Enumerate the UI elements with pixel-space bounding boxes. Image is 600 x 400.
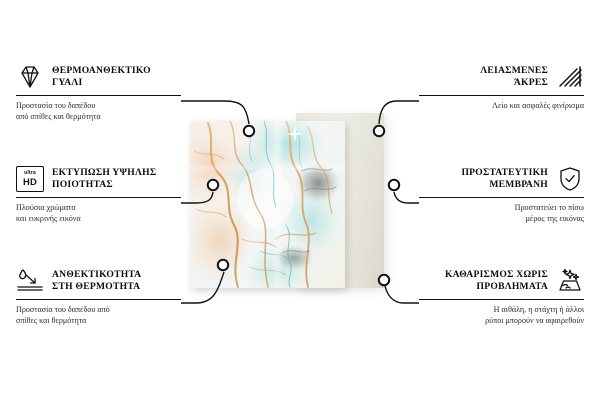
feature-easy-cleaning: ΚΑΘΑΡΙΣΜΟΣ ΧΩΡΙΣ ΠΡΟΒΛΗΜΑΤΑ Η αιθάλη, η … [419, 266, 584, 326]
connector-polished-edges [379, 101, 419, 124]
feature-description: Προστατεύει το πίσω μέρος της εικόνας [419, 202, 584, 224]
feature-description: Προστασία του δαπέδου από σπίθες και θερ… [16, 100, 181, 122]
ultra-hd-icon: ultra HD [16, 165, 44, 193]
feature-divider [419, 95, 584, 96]
feature-description: Πλούσια χρώματα και ευκρινής εικόνα [16, 202, 181, 224]
infographic-canvas: ΘΕΡΜΟΑΝΘΕΚΤΙΚΟ ΓΥΑΛΙ Προστασία του δαπέδ… [0, 0, 600, 400]
feature-description: Η αιθάλη, η στάχτη ή άλλοι ρύποι μπορούν… [419, 304, 584, 326]
dot-protective-film [389, 180, 399, 190]
feature-header: ΘΕΡΜΟΑΝΘΕΚΤΙΚΟ ΓΥΑΛΙ [16, 62, 181, 92]
connector-easy-cleaning [385, 286, 419, 303]
feature-heat-resistant-glass: ΘΕΡΜΟΑΝΘΕΚΤΙΚΟ ΓΥΑΛΙ Προστασία του δαπέδ… [16, 62, 181, 122]
product-image [190, 113, 385, 288]
connector-protective-film [394, 192, 419, 203]
feature-divider [419, 299, 584, 300]
diagonal-stripes-icon [556, 63, 584, 91]
feature-header: ΚΑΘΑΡΙΣΜΟΣ ΧΩΡΙΣ ΠΡΟΒΛΗΜΑΤΑ [419, 266, 584, 296]
feature-title: ΠΡΟΣΤΑΤΕΥΤΙΚΗ ΜΕΜΒΡΑΝΗ [461, 167, 548, 192]
feature-description: Λείο και ασφαλές φινίρισμα [419, 100, 584, 111]
feature-header: ultra HD ΕΚΤΥΠΩΣΗ ΥΨΗΛΗΣ ΠΟΙΟΤΗΤΑΣ [16, 164, 181, 194]
feature-description: Προστασία του δαπέδου από σπίθες και θερ… [16, 304, 181, 326]
feature-header: ΑΝΘΕΚΤΙΚΟΤΗΤΑ ΣΤΗ ΘΕΡΜΟΤΗΤΑ [16, 266, 181, 296]
feature-polished-edges: ΛΕΙΑΣΜΕΝΕΣ ΆΚΡΕΣ Λείο και ασφαλές φινίρι… [419, 62, 584, 111]
feature-title: ΑΝΘΕΚΤΙΚΟΤΗΤΑ ΣΤΗ ΘΕΡΜΟΤΗΤΑ [52, 269, 141, 294]
feature-header: ΛΕΙΑΣΜΕΝΕΣ ΆΚΡΕΣ [419, 62, 584, 92]
feature-title: ΛΕΙΑΣΜΕΝΕΣ ΆΚΡΕΣ [480, 65, 548, 90]
feature-divider [16, 197, 181, 198]
feature-divider [16, 299, 181, 300]
feature-high-quality-print: ultra HD ΕΚΤΥΠΩΣΗ ΥΨΗΛΗΣ ΠΟΙΟΤΗΤΑΣ Πλούσ… [16, 164, 181, 224]
glass-panel [190, 121, 345, 288]
feature-title: ΕΚΤΥΠΩΣΗ ΥΨΗΛΗΣ ΠΟΙΟΤΗΤΑΣ [52, 167, 156, 192]
feature-protective-film: ΠΡΟΣΤΑΤΕΥΤΙΚΗ ΜΕΜΒΡΑΝΗ Προστατεύει το πί… [419, 164, 584, 224]
feature-header: ΠΡΟΣΤΑΤΕΥΤΙΚΗ ΜΕΜΒΡΑΝΗ [419, 164, 584, 194]
abstract-marble-artwork [190, 121, 345, 288]
feature-heat-resistance: ΑΝΘΕΚΤΙΚΟΤΗΤΑ ΣΤΗ ΘΕΡΜΟΤΗΤΑ Προστασία το… [16, 266, 181, 326]
feature-divider [16, 95, 181, 96]
diamond-icon [16, 63, 44, 91]
feature-title: ΚΑΘΑΡΙΣΜΟΣ ΧΩΡΙΣ ΠΡΟΒΛΗΜΑΤΑ [445, 269, 548, 294]
feature-title: ΘΕΡΜΟΑΝΘΕΚΤΙΚΟ ΓΥΑΛΙ [52, 65, 151, 90]
flame-deflect-icon [16, 267, 44, 295]
shield-check-icon [556, 165, 584, 193]
feature-divider [419, 197, 584, 198]
hd-label: HD [23, 177, 37, 186]
sponge-sparkle-icon [556, 267, 584, 295]
